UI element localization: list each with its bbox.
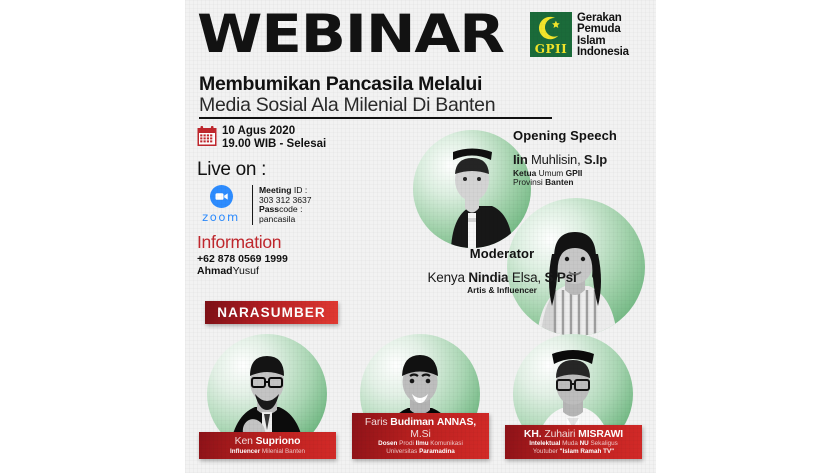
opening-speaker-role: Ketua Umum GPII Provinsi Banten bbox=[513, 169, 656, 188]
event-time: 19.00 WIB - Selesai bbox=[222, 138, 326, 151]
nara2-role-c: Ilmu bbox=[416, 440, 429, 447]
nara1-name-a: Ken bbox=[235, 436, 256, 447]
moderator-name-d: S.Psi bbox=[545, 270, 577, 285]
calendar-icon bbox=[197, 126, 217, 147]
moderator-info: Moderator Kenya Nindia Elsa, S.Psi Artis… bbox=[387, 246, 617, 295]
narasumber-role-2-line1: Dosen Prodi Ilmu Komunikasi bbox=[354, 440, 487, 447]
nara3-name-b: Zuhairi bbox=[542, 429, 579, 440]
nara3-role-f: "Islam Ramah TV" bbox=[560, 448, 615, 455]
opening-role-2a: Provinsi bbox=[513, 177, 545, 187]
nara2-role-b: Prodi bbox=[397, 440, 415, 447]
subtitle-line-2: Media Sosial Ala Milenial Di Banten bbox=[199, 95, 569, 116]
event-date: 10 Agus 2020 bbox=[222, 125, 326, 138]
opening-speech-label: Opening Speech bbox=[513, 128, 656, 143]
subtitle-line-1: Membumikan Pancasila Melalui bbox=[199, 74, 569, 95]
opening-speaker-role-line2: Provinsi Banten bbox=[513, 178, 656, 187]
narasumber-label: NARASUMBER bbox=[217, 305, 326, 320]
narasumber-list: Ken Supriono Influencer Milenial Banten bbox=[185, 330, 656, 473]
nara1-name-b: Supriono bbox=[256, 436, 301, 447]
video-camera-icon bbox=[210, 185, 233, 208]
schedule-text: 10 Agus 2020 19.00 WIB - Selesai bbox=[222, 125, 326, 150]
zoom-block: zoom Meeting ID : 303 312 3637 Passcode … bbox=[197, 185, 397, 224]
opening-speaker-first: Iin bbox=[513, 152, 528, 167]
opening-speaker-mid: Muhlisin, bbox=[528, 152, 584, 167]
nara2-role-e: Universitas bbox=[386, 448, 419, 455]
moderator-name-c: Elsa, bbox=[508, 270, 544, 285]
narasumber-name-1: Ken Supriono bbox=[201, 436, 334, 447]
narasumber-role-2-line2: Universitas Paramadina bbox=[354, 448, 487, 455]
poster-canvas: WEBINAR GPII Gerakan Pemuda Islam Indone… bbox=[0, 0, 840, 473]
moderator-name-a: Kenya bbox=[427, 270, 468, 285]
moderator-name-b: Nindia bbox=[468, 270, 508, 285]
opening-speaker-name: Iin Muhlisin, S.Ip bbox=[513, 152, 656, 167]
nara3-role-a: Intelektual bbox=[529, 440, 560, 447]
gpii-wordmark: Gerakan Pemuda Islam Indonesia bbox=[577, 12, 629, 58]
schedule-block: 10 Agus 2020 19.00 WIB - Selesai bbox=[197, 125, 397, 150]
narasumber-caption: Ken Supriono Influencer Milenial Banten bbox=[199, 432, 336, 459]
narasumber-role-3-line1: Intelektual Muda NU Sekaligus bbox=[507, 440, 640, 447]
crescent-star-icon bbox=[535, 15, 563, 43]
contact-person-last: Yusuf bbox=[233, 265, 259, 277]
moderator-name: Kenya Nindia Elsa, S.Psi bbox=[387, 270, 617, 285]
moderator-label: Moderator bbox=[387, 246, 617, 261]
narasumber-card: KH. Zuhairi MISRAWI Intelektual Muda NU … bbox=[505, 330, 642, 465]
narasumber-name-3: KH. Zuhairi MISRAWI bbox=[507, 429, 640, 440]
nara2-name-a: Faris bbox=[365, 417, 390, 428]
gpii-logo-mark: GPII bbox=[530, 12, 572, 57]
nara2-role-a: Dosen bbox=[378, 440, 397, 447]
nara3-name-a: KH. bbox=[524, 429, 542, 440]
narasumber-card: Faris Budiman ANNAS, M.Si Dosen Prodi Il… bbox=[352, 330, 489, 465]
nara3-role-e: Youtuber bbox=[533, 448, 560, 455]
narasumber-card: Ken Supriono Influencer Milenial Banten bbox=[199, 330, 336, 465]
contact-person-first: Ahmad bbox=[197, 265, 233, 277]
zoom-logo: zoom bbox=[197, 185, 245, 224]
narasumber-role-3-line2: Youtuber "Islam Ramah TV" bbox=[507, 448, 640, 455]
nara2-role-f: Paramadina bbox=[419, 448, 455, 455]
contact-phone: +62 878 0569 1999 bbox=[197, 253, 397, 265]
nara3-name-c: MISRAWI bbox=[578, 429, 623, 440]
nara2-role-d: Komunikasi bbox=[429, 440, 463, 447]
narasumber-caption: KH. Zuhairi MISRAWI Intelektual Muda NU … bbox=[505, 425, 642, 459]
passcode-value: pancasila bbox=[259, 215, 312, 225]
nara3-role-b: Muda bbox=[560, 440, 579, 447]
event-info-column: 10 Agus 2020 19.00 WIB - Selesai Live on… bbox=[197, 125, 397, 277]
meeting-id-label: Meeting bbox=[259, 185, 291, 195]
poster-subtitle: Membumikan Pancasila Melalui Media Sosia… bbox=[199, 74, 569, 119]
poster-header: WEBINAR GPII Gerakan Pemuda Islam Indone… bbox=[185, 6, 656, 72]
webinar-poster: WEBINAR GPII Gerakan Pemuda Islam Indone… bbox=[185, 0, 656, 473]
narasumber-role-1-line1: Influencer Milenial Banten bbox=[201, 448, 334, 455]
gpii-abbr: GPII bbox=[530, 42, 572, 56]
passcode-label-tail: code : bbox=[279, 204, 302, 214]
gpii-word-4: Indonesia bbox=[577, 47, 629, 58]
contact-person: AhmadYusuf bbox=[197, 265, 397, 277]
opening-role-2b: Banten bbox=[545, 177, 573, 187]
opening-speech-info: Opening Speech Iin Muhlisin, S.Ip Ketua … bbox=[513, 128, 656, 188]
nara1-role-b: Milenial Banten bbox=[260, 448, 305, 455]
nara2-name-e: M.Si bbox=[410, 429, 430, 440]
nara3-role-d: Sekaligus bbox=[589, 440, 618, 447]
nara1-role-a: Influencer bbox=[230, 448, 260, 455]
gpii-logo: GPII Gerakan Pemuda Islam Indonesia bbox=[530, 12, 629, 58]
meeting-id-label-tail: ID : bbox=[291, 185, 307, 195]
featured-speakers: Opening Speech Iin Muhlisin, S.Ip Ketua … bbox=[395, 120, 656, 335]
narasumber-name-2: Faris Budiman ANNAS, M.Si bbox=[354, 417, 487, 440]
nara2-name-b: Budiman bbox=[390, 417, 434, 428]
nara2-name-d: ANNAS, bbox=[437, 417, 476, 428]
gpii-word-2: Pemuda bbox=[577, 24, 629, 35]
information-heading: Information bbox=[197, 232, 397, 252]
nara3-role-c: NU bbox=[580, 440, 589, 447]
narasumber-banner: NARASUMBER bbox=[205, 301, 338, 324]
narasumber-caption: Faris Budiman ANNAS, M.Si Dosen Prodi Il… bbox=[352, 413, 489, 459]
zoom-credentials: Meeting ID : 303 312 3637 Passcode : pan… bbox=[252, 185, 312, 224]
page-title: WEBINAR bbox=[197, 8, 504, 61]
zoom-wordmark: zoom bbox=[197, 210, 245, 224]
subtitle-underline bbox=[199, 117, 552, 119]
opening-speaker-degree: S.Ip bbox=[584, 152, 607, 167]
moderator-role: Artis & Influencer bbox=[387, 286, 617, 295]
live-on-label: Live on : bbox=[197, 159, 397, 181]
passcode-label: Pass bbox=[259, 204, 279, 214]
